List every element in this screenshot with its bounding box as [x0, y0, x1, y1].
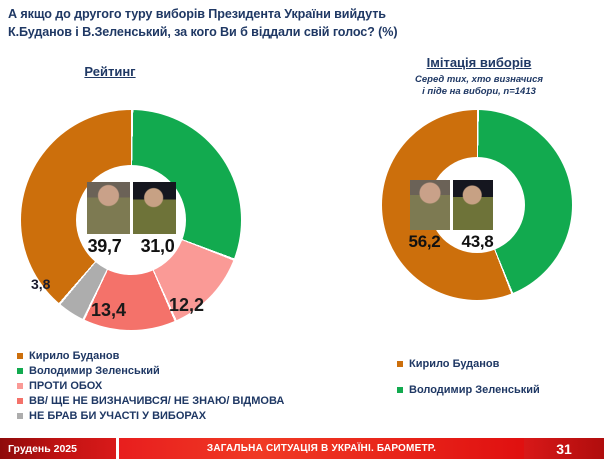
- slice-label-proty-oboh: 3,8: [31, 276, 50, 292]
- zelensky-photo: [453, 180, 493, 230]
- left-chart-panel: Рейтинг 39,7 31,0 3,8 13,4 12,2 Кирило Б…: [0, 0, 330, 430]
- left-center-photos: [78, 180, 184, 234]
- right-chart-panel: Імітація виборів Серед тих, хто визначис…: [330, 0, 604, 430]
- footer-title: ЗАГАЛЬНА СИТУАЦІЯ В УКРАЇНІ. БАРОМЕТР.: [119, 438, 524, 459]
- legend-item-budanov[interactable]: Кирило Буданов: [17, 350, 284, 362]
- legend-item-zelensky[interactable]: Володимир Зеленський: [17, 365, 284, 377]
- legend-swatch-icon: [397, 361, 403, 367]
- legend-item-proty-oboh[interactable]: ПРОТИ ОБОХ: [17, 380, 284, 392]
- legend-swatch-icon: [17, 398, 23, 404]
- legend-swatch-icon: [17, 353, 23, 359]
- legend-item-nevyznachyvsia[interactable]: ВВ/ ЩЕ НЕ ВИЗНАЧИВСЯ/ НЕ ЗНАЮ/ ВІДМОВА: [17, 395, 284, 407]
- footer-page-number: 31: [524, 438, 604, 459]
- budanov-photo: [87, 182, 130, 234]
- legend-label: Володимир Зеленський: [29, 365, 160, 377]
- value-zelensky: 31,0: [131, 236, 184, 257]
- left-chart-title: Рейтинг: [0, 64, 275, 79]
- right-center-values: 56,2 43,8: [398, 232, 504, 252]
- right-subtitle-line-1: Серед тих, хто визначися: [415, 74, 543, 85]
- right-chart-subtitle: Серед тих, хто визначися і піде на вибор…: [342, 74, 604, 98]
- legend-item-nebrav[interactable]: НЕ БРАВ БИ УЧАСТІ У ВИБОРАХ: [17, 410, 284, 422]
- legend-label: Володимир Зеленський: [409, 384, 540, 396]
- legend-label: Кирило Буданов: [29, 350, 119, 362]
- legend-swatch-icon: [17, 368, 23, 374]
- left-center-values: 39,7 31,0: [78, 236, 184, 257]
- legend-label: НЕ БРАВ БИ УЧАСТІ У ВИБОРАХ: [29, 410, 206, 422]
- value-budanov: 39,7: [78, 236, 131, 257]
- legend-item-budanov[interactable]: Кирило Буданов: [397, 358, 540, 370]
- legend-swatch-icon: [17, 383, 23, 389]
- right-center-photos: [401, 178, 501, 230]
- legend-label: ПРОТИ ОБОХ: [29, 380, 102, 392]
- zelensky-photo: [133, 182, 176, 234]
- legend-swatch-icon: [17, 413, 23, 419]
- legend-swatch-icon: [397, 387, 403, 393]
- value-zelensky: 43,8: [451, 232, 504, 252]
- right-subtitle-line-2: і піде на вибори, n=1413: [422, 86, 536, 97]
- legend-item-zelensky[interactable]: Володимир Зеленський: [397, 384, 540, 396]
- footer-bar: Грудень 2025 ЗАГАЛЬНА СИТУАЦІЯ В УКРАЇНІ…: [0, 438, 604, 459]
- budanov-photo: [410, 180, 450, 230]
- value-budanov: 56,2: [398, 232, 451, 252]
- left-legend: Кирило Буданов Володимир Зеленський ПРОТ…: [17, 350, 284, 425]
- right-chart-title: Імітація виборів: [342, 55, 604, 70]
- legend-label: Кирило Буданов: [409, 358, 499, 370]
- footer-date: Грудень 2025: [0, 438, 116, 459]
- slice-label-ne-brav-uchasti: 12,2: [169, 295, 204, 316]
- right-legend: Кирило Буданов Володимир Зеленський: [397, 358, 540, 410]
- slice-label-ne-vyznachyvsia: 13,4: [91, 300, 126, 321]
- legend-label: ВВ/ ЩЕ НЕ ВИЗНАЧИВСЯ/ НЕ ЗНАЮ/ ВІДМОВА: [29, 395, 284, 407]
